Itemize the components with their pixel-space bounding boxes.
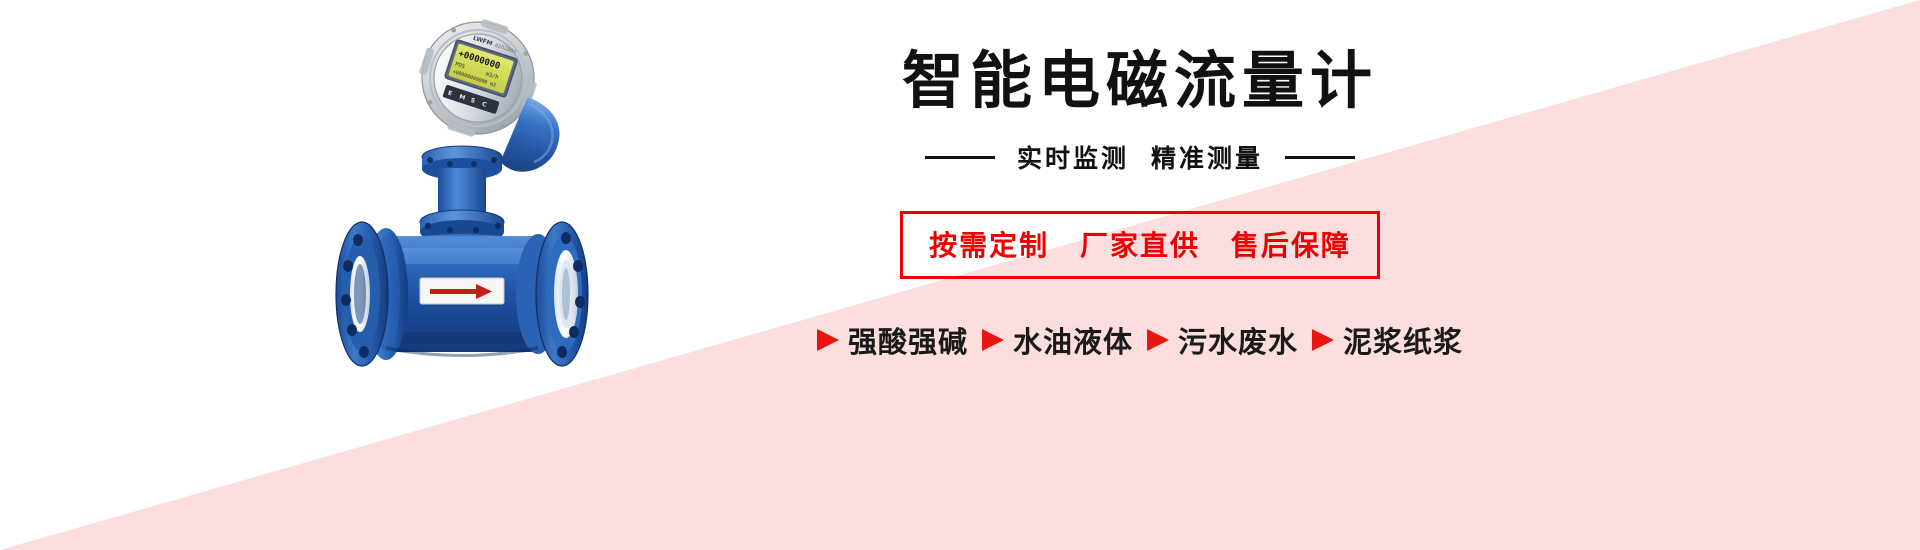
service-badge: 按需定制 厂家直供 售后保障 (900, 211, 1380, 279)
feature-label: 泥浆纸浆 (1343, 319, 1463, 361)
feature-item: 强酸强碱 (817, 319, 968, 361)
feature-label: 强酸强碱 (848, 319, 968, 361)
badge-item-2: 厂家直供 (1080, 229, 1200, 262)
arrow-right-icon (1312, 329, 1334, 351)
page-title: 智能电磁流量计 (902, 48, 1378, 113)
feature-label: 污水废水 (1178, 319, 1298, 361)
feature-item: 泥浆纸浆 (1312, 319, 1463, 361)
subtitle-right: 精准测量 (1151, 139, 1263, 175)
feature-item: 水油液体 (982, 319, 1133, 361)
product-banner: +0000000 POS m3/h +00000000000 m3 LWFM 8… (0, 0, 1920, 550)
arrow-right-icon (982, 329, 1004, 351)
badge-item-1: 按需定制 (929, 229, 1049, 262)
arrow-right-icon (1147, 329, 1169, 351)
feature-label: 水油液体 (1013, 319, 1133, 361)
subtitle-left: 实时监测 (1017, 139, 1129, 175)
feature-list: 强酸强碱 水油液体 污水废水 泥浆纸浆 (817, 319, 1463, 361)
subtitle-row: 实时监测 精准测量 (925, 139, 1355, 175)
rule-right (1285, 156, 1355, 159)
feature-item: 污水废水 (1147, 319, 1298, 361)
rule-left (925, 156, 995, 159)
badge-item-3: 售后保障 (1231, 229, 1351, 262)
banner-text-content: 智能电磁流量计 实时监测 精准测量 按需定制 厂家直供 售后保障 强酸强碱 水油… (640, 0, 1640, 550)
arrow-right-icon (817, 329, 839, 351)
